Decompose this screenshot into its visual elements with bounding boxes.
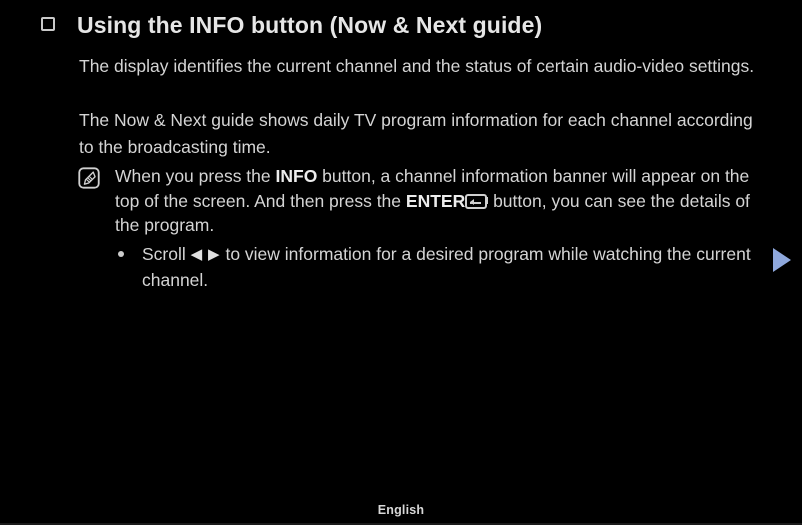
arrow-left-icon: ◀ (191, 243, 204, 268)
note-text: When you press the INFO button, a channe… (115, 164, 775, 238)
enter-key-icon (465, 194, 487, 209)
triangle-right-icon[interactable] (773, 248, 791, 272)
note-pen-icon (78, 167, 100, 189)
description-paragraph-2: The Now & Next guide shows daily TV prog… (79, 107, 769, 161)
footer-language-label: English (0, 503, 802, 517)
list-item: Scroll ◀ ▶ to view information for a des… (118, 242, 758, 292)
sub-text-part1: Scroll (142, 244, 191, 264)
page-title: Using the INFO button (Now & Next guide) (77, 10, 542, 40)
dot-bullet-icon (118, 251, 124, 257)
sub-item-text: Scroll ◀ ▶ to view information for a des… (142, 242, 758, 292)
sub-text-part2: to view information for a desired progra… (142, 244, 751, 290)
note-text-part1: When you press the (115, 166, 276, 186)
note-bold-enter: ENTER (406, 191, 465, 211)
arrow-right-icon: ▶ (208, 243, 221, 268)
page-heading: Using the INFO button (Now & Next guide) (41, 10, 542, 40)
note-bold-info: INFO (276, 166, 318, 186)
tv-help-screen: Using the INFO button (Now & Next guide)… (0, 0, 802, 525)
square-outline-icon (41, 17, 55, 31)
description-paragraph-1: The display identifies the current chann… (79, 53, 769, 80)
note-block: When you press the INFO button, a channe… (78, 164, 778, 238)
